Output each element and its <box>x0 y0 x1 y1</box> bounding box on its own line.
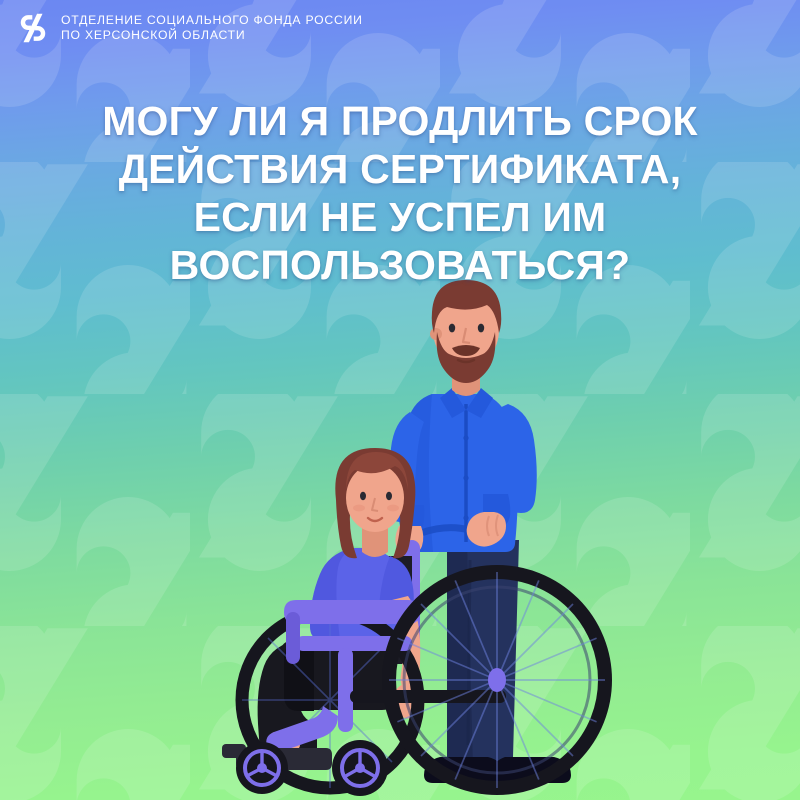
man-eye-left <box>449 324 455 333</box>
shirt-button <box>463 515 468 520</box>
man-eye-right <box>478 324 484 333</box>
armrest-support <box>286 612 300 664</box>
woman-blush-left <box>353 505 365 512</box>
woman-eye-right <box>386 492 392 500</box>
organization-line-1: ОТДЕЛЕНИЕ СОЦИАЛЬНОГО ФОНДА РОССИИ <box>61 13 363 28</box>
man-ear <box>430 328 442 340</box>
poster-canvas: ОТДЕЛЕНИЕ СОЦИАЛЬНОГО ФОНДА РОССИИ ПО ХЕ… <box>0 0 800 800</box>
caster-wheel-right <box>332 740 388 796</box>
organization-line-2: ПО ХЕРСОНСКОЙ ОБЛАСТИ <box>61 28 363 43</box>
shirt-button <box>463 475 468 480</box>
headline-question: МОГУ ЛИ Я ПРОДЛИТЬ СРОК ДЕЙСТВИЯ СЕРТИФИ… <box>0 97 800 289</box>
organization-name: ОТДЕЛЕНИЕ СОЦИАЛЬНОГО ФОНДА РОССИИ ПО ХЕ… <box>61 13 363 44</box>
brand-header: ОТДЕЛЕНИЕ СОЦИАЛЬНОГО ФОНДА РОССИИ ПО ХЕ… <box>16 11 363 45</box>
woman-eye-left <box>360 492 366 500</box>
headline-line-2: ДЕЙСТВИЯ СЕРТИФИКАТА, <box>0 145 800 193</box>
headline-line-4: ВОСПОЛЬЗОВАТЬСЯ? <box>0 241 800 289</box>
woman-blush-right <box>387 505 399 512</box>
frame-front-post <box>338 648 353 732</box>
wheel-rear-right <box>389 572 605 788</box>
headline-line-1: МОГУ ЛИ Я ПРОДЛИТЬ СРОК <box>0 97 800 145</box>
shirt-button <box>463 435 468 440</box>
cross-bar <box>350 690 506 703</box>
sfr-monogram-logo-icon <box>16 11 50 45</box>
headline-line-3: ЕСЛИ НЕ УСПЕЛ ИМ <box>0 193 800 241</box>
caster-wheel-left <box>236 742 288 794</box>
wheel-hub-right <box>488 668 506 692</box>
